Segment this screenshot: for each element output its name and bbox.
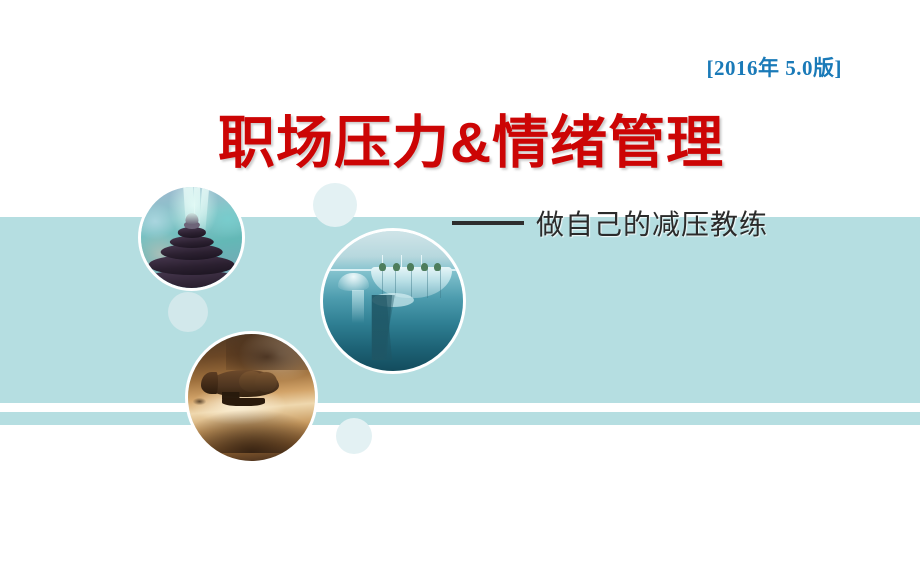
- image-airship-whale: [185, 331, 318, 464]
- decorative-circle-upper: [313, 183, 357, 227]
- version-tag: [2016年 5.0版]: [707, 52, 843, 82]
- image-underwater-island: [320, 228, 466, 374]
- whale-tail: [201, 372, 219, 394]
- island-tree: [421, 263, 428, 271]
- background-band-stripe: [0, 412, 920, 425]
- presentation-slide: [2016年 5.0版] 职场压力&情绪管理 做自己的减压教练: [0, 0, 920, 575]
- image-zen-stones: [138, 184, 245, 291]
- island-tree: [379, 263, 386, 271]
- bell-rib: [427, 267, 428, 298]
- underwater-island-artwork: [323, 231, 463, 371]
- stone-top-figure: [185, 213, 198, 224]
- subtitle-label: 做自己的减压教练: [536, 203, 768, 243]
- bell-rib: [411, 267, 412, 298]
- gondola: [222, 398, 265, 407]
- decorative-circle-middle: [168, 292, 208, 332]
- decorative-circle-lower: [336, 418, 372, 454]
- distant-jellyfish-stem: [352, 290, 363, 324]
- subtitle-dash-rule: [452, 221, 524, 225]
- bell-rib: [440, 267, 441, 298]
- wind-turbine-mast: [401, 255, 402, 269]
- island-tree: [407, 263, 414, 271]
- page-title: 职场压力&情绪管理: [218, 112, 724, 176]
- distant-jellyfish-dome: [338, 273, 369, 291]
- airship-whale-artwork: [188, 334, 315, 461]
- island-tree: [393, 263, 400, 271]
- dark-cloud: [226, 331, 318, 370]
- island-tree: [434, 263, 441, 271]
- subtitle: 做自己的减压教练: [452, 203, 768, 243]
- dark-ridge: [185, 410, 318, 453]
- submerged-tentacles: [372, 295, 408, 359]
- distant-silhouette: [193, 398, 206, 406]
- zen-stones-artwork: [141, 187, 242, 288]
